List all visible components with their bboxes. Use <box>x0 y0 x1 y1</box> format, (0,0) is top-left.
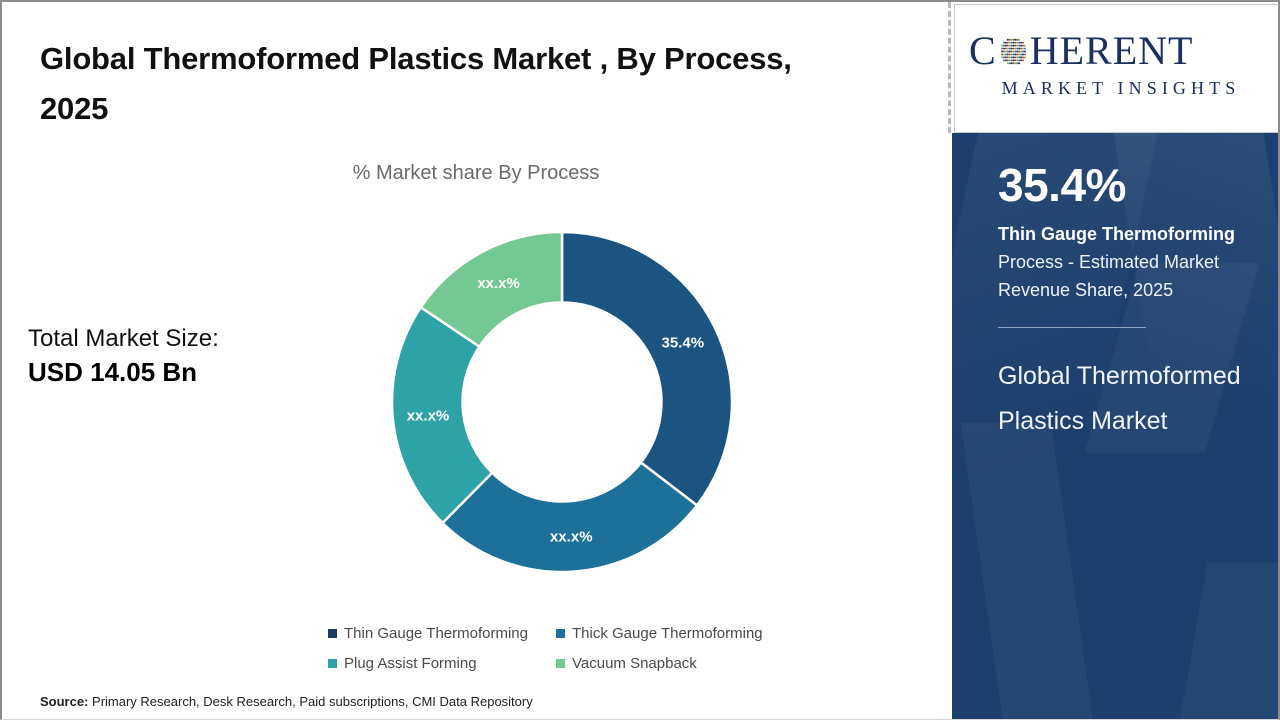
legend-label: Vacuum Snapback <box>572 655 697 672</box>
infographic-slide: Global Thermoformed Plastics Market , By… <box>0 0 1280 720</box>
brand-logo-box: C HERENT MARKET INSIGHTS <box>954 4 1280 133</box>
panel-decor-shape <box>1156 563 1280 720</box>
highlight-stat-description: Thin Gauge Thermoforming Process - Estim… <box>998 221 1238 305</box>
highlight-market-name: Global Thermoformed Plastics Market <box>998 354 1248 445</box>
page-title: Global Thermoformed Plastics Market , By… <box>40 34 830 134</box>
highlight-stat-description-emphasis: Thin Gauge Thermoforming <box>998 224 1235 244</box>
legend-item-vacuum-snapback[interactable]: Vacuum Snapback <box>556 655 697 672</box>
legend-item-thin-gauge-thermoforming[interactable]: Thin Gauge Thermoforming <box>328 625 556 642</box>
total-market-size-value: USD 14.05 Bn <box>28 355 328 390</box>
donut-slice-label: xx.x% <box>477 275 520 292</box>
donut-slice-label: 35.4% <box>662 334 705 351</box>
legend-swatch-icon <box>328 659 337 668</box>
brand-logo-text: HERENT <box>1030 31 1194 71</box>
legend-swatch-icon <box>556 659 565 668</box>
donut-slice[interactable] <box>562 232 732 505</box>
source-note: Source: Primary Research, Desk Research,… <box>40 694 533 709</box>
legend-row: Plug Assist Forming Vacuum Snapback <box>328 648 828 678</box>
donut-chart-svg: 35.4%xx.x%xx.x%xx.x% <box>387 227 737 577</box>
highlight-panel-content: 35.4% Thin Gauge Thermoforming Process -… <box>952 133 1280 445</box>
right-side-panel: C HERENT MARKET INSIGHTS 35.4% Thin Gaug… <box>952 2 1280 720</box>
main-content-area: Global Thermoformed Plastics Market , By… <box>2 2 950 720</box>
vertical-dashed-divider <box>948 2 951 133</box>
globe-icon <box>998 36 1029 67</box>
donut-slice-group <box>392 232 732 572</box>
donut-slice-label: xx.x% <box>550 528 593 545</box>
brand-wordmark: C HERENT <box>969 31 1269 71</box>
panel-decor-shape <box>961 423 1093 720</box>
total-market-size-block: Total Market Size: USD 14.05 Bn <box>28 324 328 390</box>
donut-slice-label: xx.x% <box>407 408 450 425</box>
highlight-stat-value: 35.4% <box>998 161 1250 209</box>
legend-label: Plug Assist Forming <box>344 655 477 672</box>
brand-logo: C HERENT MARKET INSIGHTS <box>969 31 1269 99</box>
source-text: Primary Research, Desk Research, Paid su… <box>88 694 532 709</box>
highlight-panel: 35.4% Thin Gauge Thermoforming Process -… <box>952 133 1280 720</box>
chart-legend: Thin Gauge Thermoforming Thick Gauge The… <box>328 618 828 678</box>
legend-item-plug-assist-forming[interactable]: Plug Assist Forming <box>328 655 556 672</box>
donut-chart: 35.4%xx.x%xx.x%xx.x% <box>387 227 737 577</box>
panel-divider-rule <box>998 327 1146 328</box>
chart-subtitle: % Market share By Process <box>2 162 950 185</box>
highlight-stat-description-rest: Process - Estimated Market Revenue Share… <box>998 252 1219 300</box>
brand-logo-letter-c: C <box>969 31 997 71</box>
legend-swatch-icon <box>556 629 565 638</box>
brand-tagline: MARKET INSIGHTS <box>969 78 1269 99</box>
source-label: Source: <box>40 694 88 709</box>
legend-row: Thin Gauge Thermoforming Thick Gauge The… <box>328 618 828 648</box>
legend-label: Thick Gauge Thermoforming <box>572 625 763 642</box>
legend-swatch-icon <box>328 629 337 638</box>
legend-item-thick-gauge-thermoforming[interactable]: Thick Gauge Thermoforming <box>556 625 763 642</box>
legend-label: Thin Gauge Thermoforming <box>344 625 528 642</box>
total-market-size-label: Total Market Size: <box>28 324 328 355</box>
